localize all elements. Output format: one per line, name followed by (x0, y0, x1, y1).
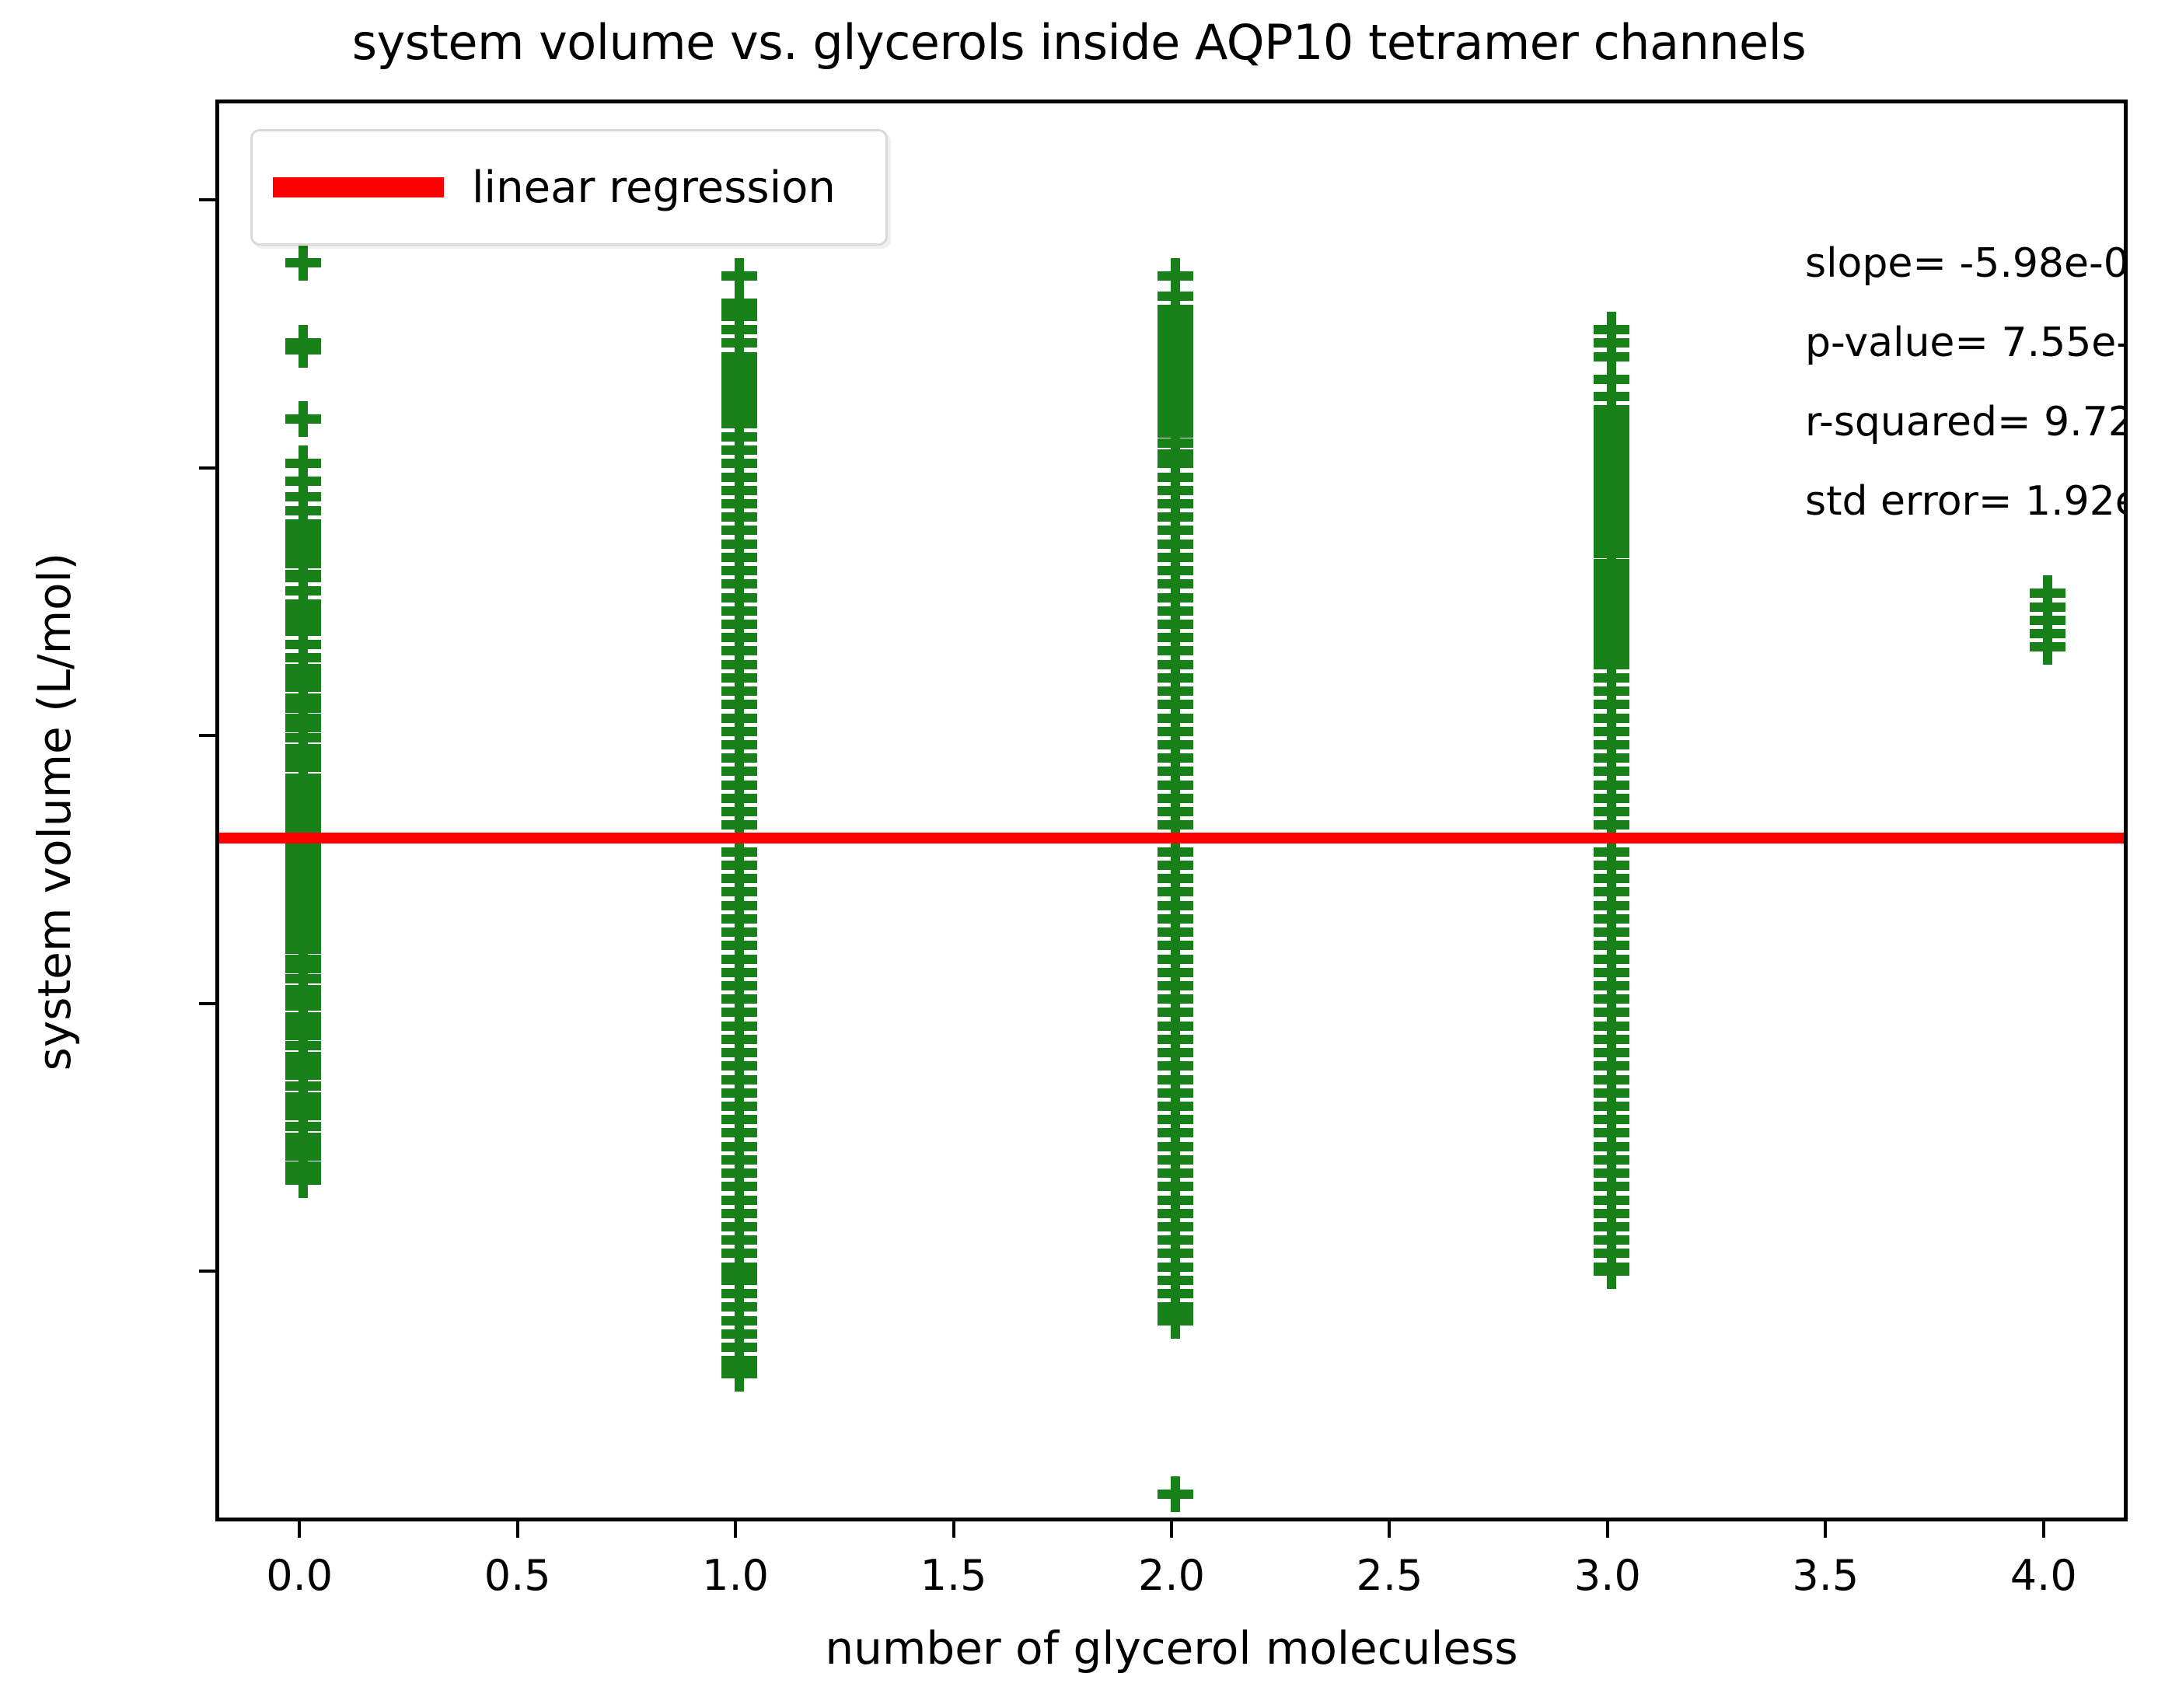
scatter-marker (721, 580, 757, 616)
scatter-marker (1594, 459, 1629, 495)
scatter-marker (1594, 740, 1629, 776)
scatter-marker (1158, 486, 1193, 522)
scatter-marker (721, 419, 757, 455)
scatter-marker (1594, 1035, 1629, 1071)
scatter-marker (1158, 526, 1193, 562)
scatter-marker (1594, 794, 1629, 830)
scatter-marker (285, 921, 321, 957)
scatter-marker (1594, 1249, 1629, 1285)
scatter-marker (285, 798, 321, 833)
x-tick-mark (516, 1521, 519, 1538)
scatter-marker (1594, 660, 1629, 696)
scatter-marker (1594, 633, 1629, 669)
scatter-marker (1158, 767, 1193, 803)
scatter-marker (1594, 473, 1629, 508)
scatter-marker (1158, 278, 1193, 314)
scatter-marker (1594, 941, 1629, 977)
scatter-marker (1594, 1022, 1629, 1057)
scatter-marker (1594, 1088, 1629, 1124)
scatter-marker (1158, 847, 1193, 883)
scatter-marker (285, 640, 321, 676)
scatter-marker (1594, 1209, 1629, 1245)
scatter-marker (1158, 606, 1193, 642)
scatter-marker (1594, 901, 1629, 937)
scatter-marker (721, 1102, 757, 1137)
scatter-marker (1158, 593, 1193, 629)
scatter-marker (285, 874, 321, 910)
scatter-marker (721, 753, 757, 789)
scatter-marker (1594, 339, 1629, 375)
scatter-marker (1594, 620, 1629, 655)
scatter-marker (1158, 459, 1193, 495)
scatter-marker (1594, 642, 1629, 678)
scatter-marker (1594, 312, 1629, 348)
scatter-marker (1158, 1222, 1193, 1258)
scatter-marker (721, 1303, 757, 1339)
scatter-marker (1158, 753, 1193, 789)
scatter-marker (721, 981, 757, 1017)
scatter-marker (285, 888, 321, 924)
scatter-marker (721, 700, 757, 736)
scatter-marker (285, 961, 321, 997)
scatter-marker (1594, 526, 1629, 562)
scatter-marker (285, 1088, 321, 1124)
scatter-marker (1594, 419, 1629, 455)
scatter-marker (285, 999, 321, 1035)
legend[interactable]: linear regression (250, 129, 888, 246)
scatter-marker (721, 379, 757, 414)
scatter-marker (285, 1079, 321, 1115)
scatter-marker (1158, 372, 1193, 408)
scatter-marker (285, 881, 321, 917)
scatter-marker (1158, 1296, 1193, 1332)
scatter-marker (1594, 428, 1629, 464)
scatter-marker (1594, 767, 1629, 803)
scatter-marker (1594, 593, 1629, 629)
scatter-marker (721, 714, 757, 749)
scatter-marker (721, 1022, 757, 1057)
scatter-marker (1158, 415, 1193, 451)
scatter-marker (1594, 557, 1629, 592)
x-tick-label: 0.5 (401, 1551, 634, 1600)
scatter-marker (721, 914, 757, 950)
scatter-marker (285, 847, 321, 883)
scatter-marker (721, 874, 757, 910)
scatter-marker (285, 1098, 321, 1133)
scatter-marker (1158, 1022, 1193, 1057)
scatter-marker (1158, 540, 1193, 575)
scatter-marker (1158, 1088, 1193, 1124)
scatter-marker (285, 1119, 321, 1155)
scatter-marker (285, 1048, 321, 1084)
scatter-marker (285, 332, 321, 368)
scatter-marker (721, 955, 757, 990)
scatter-marker (1158, 1196, 1193, 1231)
stat-r-squared-label: r-squared= (1805, 399, 2031, 445)
scatter-marker (1594, 499, 1629, 535)
x-tick-mark (1606, 1521, 1609, 1538)
scatter-marker (1158, 436, 1193, 472)
scatter-marker (285, 526, 321, 562)
x-tick-mark (2042, 1521, 2045, 1538)
scatter-marker (1594, 432, 1629, 468)
scatter-marker (1158, 345, 1193, 381)
stats-annotations: slope= -5.98e-03 p-value= 7.55e-01 r-squ… (1805, 240, 2128, 557)
scatter-marker (1158, 633, 1193, 669)
scatter-marker (285, 1162, 321, 1198)
scatter-marker (1158, 700, 1193, 736)
scatter-marker (285, 931, 321, 967)
y-tick-mark (199, 734, 215, 737)
scatter-marker (721, 1222, 757, 1258)
scatter-marker (285, 463, 321, 499)
scatter-marker (721, 1142, 757, 1178)
scatter-marker (285, 720, 321, 756)
scatter-marker (1594, 629, 1629, 665)
scatter-marker (1158, 392, 1193, 428)
scatter-marker (721, 1035, 757, 1071)
scatter-marker (1594, 1008, 1629, 1044)
scatter-marker (1594, 874, 1629, 910)
scatter-marker (1594, 1235, 1629, 1271)
scatter-marker (1158, 1129, 1193, 1165)
scatter-marker (1594, 914, 1629, 950)
scatter-marker (721, 486, 757, 522)
scatter-marker (1594, 753, 1629, 789)
scatter-marker (721, 888, 757, 924)
scatter-marker (721, 1263, 757, 1298)
scatter-marker (285, 599, 321, 635)
scatter-marker (721, 459, 757, 495)
scatter-marker (285, 1068, 321, 1104)
scatter-marker (721, 1182, 757, 1218)
scatter-marker (721, 299, 757, 334)
scatter-marker (721, 292, 757, 327)
scatter-marker (721, 285, 757, 321)
scatter-marker (285, 854, 321, 890)
scatter-marker (1594, 1075, 1629, 1111)
scatter-marker (1158, 396, 1193, 432)
scatter-marker (1594, 566, 1629, 602)
scatter-marker (285, 901, 321, 937)
scatter-marker (285, 686, 321, 722)
scatter-marker (1158, 1303, 1193, 1339)
scatter-marker (721, 901, 757, 937)
scatter-marker (285, 941, 321, 977)
scatter-marker (2030, 629, 2065, 665)
scatter-marker (1158, 981, 1193, 1017)
scatter-marker (285, 1057, 321, 1093)
scatter-marker (285, 606, 321, 642)
scatter-marker (721, 620, 757, 655)
x-tick-label: 3.0 (1491, 1551, 1724, 1600)
scatter-marker (1158, 620, 1193, 655)
stat-slope: slope= -5.98e-03 (1805, 240, 2128, 287)
scatter-marker (1594, 442, 1629, 477)
scatter-marker (721, 1256, 757, 1291)
scatter-marker (1594, 575, 1629, 611)
scatter-marker (285, 814, 321, 850)
scatter-marker (285, 975, 321, 1011)
stat-std-error-label: std error= (1805, 478, 2012, 525)
scatter-marker (1158, 1008, 1193, 1044)
scatter-marker (721, 633, 757, 669)
scatter-marker (1594, 522, 1629, 557)
scatter-marker (285, 740, 321, 776)
scatter-marker (1594, 546, 1629, 582)
scatter-marker (1158, 1289, 1193, 1325)
scatter-marker (721, 399, 757, 435)
scatter-marker (1158, 305, 1193, 341)
scatter-marker (1594, 1048, 1629, 1084)
scatter-marker (1158, 1048, 1193, 1084)
scatter-marker (721, 1289, 757, 1325)
scatter-marker (721, 847, 757, 883)
stat-slope-value: -5.98e-03 (1959, 240, 2128, 287)
scatter-marker (1594, 589, 1629, 625)
x-tick-label: 1.0 (619, 1551, 852, 1600)
scatter-marker (721, 606, 757, 642)
scatter-marker (721, 1115, 757, 1151)
scatter-marker (721, 1249, 757, 1285)
scatter-marker (1594, 580, 1629, 616)
y-tick-mark (199, 1002, 215, 1005)
scatter-marker (285, 690, 321, 726)
scatter-marker (1594, 415, 1629, 451)
scatter-marker (721, 593, 757, 629)
scatter-marker (1158, 927, 1193, 963)
scatter-marker (1158, 1142, 1193, 1178)
scatter-marker (285, 907, 321, 943)
scatter-marker (721, 445, 757, 481)
scatter-marker (285, 988, 321, 1024)
stat-slope-label: slope= (1805, 240, 1947, 287)
scatter-marker (1594, 392, 1629, 428)
x-tick-label: 1.5 (837, 1551, 1070, 1600)
scatter-marker (721, 312, 757, 348)
scatter-marker (1158, 781, 1193, 816)
scatter-marker (1594, 486, 1629, 522)
scatter-marker (285, 245, 321, 281)
scatter-marker (1594, 325, 1629, 361)
scatter-marker (285, 731, 321, 767)
scatter-marker (721, 861, 757, 896)
scatter-marker (1158, 1075, 1193, 1111)
scatter-marker (721, 673, 757, 709)
scatter-marker (1158, 386, 1193, 421)
scatter-marker (1158, 1062, 1193, 1098)
scatter-marker (1594, 1168, 1629, 1204)
scatter-marker (1594, 927, 1629, 963)
scatter-marker (1594, 981, 1629, 1017)
scatter-marker (1158, 339, 1193, 375)
scatter-marker (1158, 1476, 1193, 1512)
scatter-marker (721, 767, 757, 803)
scatter-marker (285, 951, 321, 987)
scatter-marker (285, 593, 321, 629)
scatter-marker (721, 1209, 757, 1245)
scatter-marker (1158, 1115, 1193, 1151)
scatter-marker (1594, 1222, 1629, 1258)
scatter-marker (1594, 562, 1629, 598)
scatter-marker (1158, 794, 1193, 830)
scatter-marker (1158, 901, 1193, 937)
scatter-marker (1158, 566, 1193, 602)
scatter-marker (721, 1196, 757, 1231)
scatter-marker (721, 352, 757, 388)
legend-swatch-linear-regression (273, 177, 444, 197)
scatter-marker (285, 760, 321, 796)
scatter-marker (721, 1155, 757, 1191)
scatter-marker (1594, 955, 1629, 990)
scatter-marker (285, 669, 321, 705)
x-tick-label: 2.0 (1055, 1551, 1288, 1600)
scatter-marker (285, 736, 321, 772)
scatter-marker (1594, 700, 1629, 736)
scatter-marker (2030, 575, 2065, 611)
scatter-marker (285, 506, 321, 542)
scatter-marker (1594, 994, 1629, 1030)
scatter-marker (285, 557, 321, 592)
scatter-marker (1158, 406, 1193, 442)
scatter-marker (285, 781, 321, 816)
scatter-marker (285, 700, 321, 736)
scatter-marker (721, 927, 757, 963)
scatter-marker (1594, 455, 1629, 491)
scatter-marker (285, 972, 321, 1008)
scatter-marker (1158, 1102, 1193, 1137)
legend-label-linear-regression: linear regression (472, 162, 836, 213)
scatter-marker (285, 840, 321, 876)
scatter-marker (721, 1075, 757, 1111)
scatter-marker (1158, 861, 1193, 896)
scatter-marker (1594, 1182, 1629, 1218)
scatter-marker (1594, 1142, 1629, 1178)
scatter-marker (721, 406, 757, 442)
stat-std-error-value: 1.92e-02 (2025, 478, 2128, 525)
scatter-marker (721, 1356, 757, 1392)
scatter-marker (2030, 589, 2065, 625)
scatter-marker (285, 493, 321, 529)
scatter-marker (285, 771, 321, 807)
scatter-marker (1158, 1182, 1193, 1218)
scatter-marker (1594, 847, 1629, 883)
scatter-marker (1158, 874, 1193, 910)
scatter-marker (721, 540, 757, 575)
scatter-marker (1594, 1115, 1629, 1151)
x-tick-mark (1388, 1521, 1391, 1538)
stat-std-error: std error= 1.92e-02 (1805, 478, 2128, 525)
y-tick-mark (199, 1270, 215, 1273)
x-tick-mark (734, 1521, 737, 1538)
y-tick-mark (199, 198, 215, 201)
scatter-marker (1594, 406, 1629, 442)
x-tick-label: 4.0 (1927, 1551, 2158, 1600)
scatter-marker (721, 660, 757, 696)
scatter-marker (1594, 616, 1629, 651)
scatter-marker (1158, 968, 1193, 1004)
scatter-marker (1158, 1263, 1193, 1298)
stat-p-value: p-value= 7.55e-01 (1805, 320, 2128, 366)
scatter-marker (721, 994, 757, 1030)
scatter-marker (1594, 673, 1629, 709)
scatter-marker (721, 941, 757, 977)
scatter-marker (1594, 606, 1629, 642)
scatter-marker (1158, 888, 1193, 924)
scatter-marker (1594, 482, 1629, 518)
scatter-marker (285, 790, 321, 826)
scatter-marker (285, 861, 321, 896)
scatter-marker (285, 927, 321, 963)
scatter-marker (285, 512, 321, 548)
stat-r-squared: r-squared= 9.72e-06 (1805, 399, 2128, 445)
scatter-marker (721, 499, 757, 535)
scatter-marker (721, 339, 757, 375)
scatter-marker (1594, 968, 1629, 1004)
scatter-marker (721, 1088, 757, 1124)
scatter-marker (1594, 536, 1629, 571)
scatter-marker (1594, 445, 1629, 481)
scatter-marker (721, 727, 757, 763)
scatter-marker (721, 781, 757, 816)
scatter-marker (721, 566, 757, 602)
scatter-marker (285, 680, 321, 716)
scatter-marker (285, 325, 321, 361)
scatter-marker (285, 1148, 321, 1184)
stat-p-value-label: p-value= (1805, 320, 1989, 366)
scatter-marker (1158, 365, 1193, 401)
scatter-marker (1158, 647, 1193, 683)
scatter-marker (285, 546, 321, 582)
scatter-marker (1594, 549, 1629, 585)
scatter-marker (285, 961, 321, 997)
scatter-marker (1158, 714, 1193, 749)
scatter-marker (1594, 401, 1629, 437)
scatter-marker (1158, 312, 1193, 348)
scatter-marker (285, 1109, 321, 1144)
scatter-marker (1158, 673, 1193, 709)
scatter-marker (721, 740, 757, 776)
scatter-marker (1158, 358, 1193, 394)
scatter-marker (285, 560, 321, 596)
scatter-marker (721, 1350, 757, 1385)
scatter-marker (1158, 553, 1193, 589)
scatter-marker (1594, 1102, 1629, 1137)
scatter-marker (285, 651, 321, 686)
scatter-marker (1158, 686, 1193, 722)
scatter-marker (721, 794, 757, 830)
scatter-marker (1158, 955, 1193, 990)
scatter-marker (721, 647, 757, 683)
scatter-marker (721, 526, 757, 562)
scatter-marker (1594, 727, 1629, 763)
scatter-marker (1158, 1276, 1193, 1312)
scatter-marker (721, 325, 757, 361)
scatter-marker (721, 512, 757, 548)
scatter-marker (721, 345, 757, 381)
scatter-marker (1158, 580, 1193, 616)
scatter-marker (1594, 362, 1629, 397)
scatter-marker (2030, 603, 2065, 638)
scatter-marker (1158, 473, 1193, 508)
scatter-marker (1158, 512, 1193, 548)
scatter-marker (285, 710, 321, 746)
scatter-marker (721, 968, 757, 1004)
linear-regression-line (219, 833, 2124, 844)
scatter-marker (1158, 994, 1193, 1030)
scatter-marker (1594, 781, 1629, 816)
x-tick-mark (298, 1521, 301, 1538)
